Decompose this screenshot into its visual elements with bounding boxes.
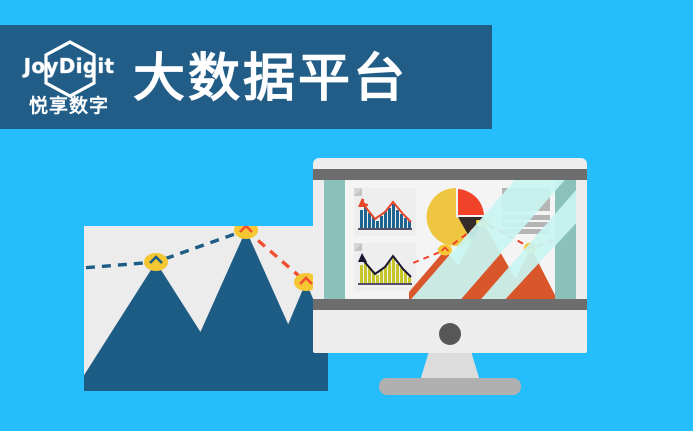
mini-chart-blue-svg (354, 188, 416, 236)
brand-logo[interactable]: JoyDigit 悦享数字 (14, 39, 124, 117)
camera-dot-icon (439, 323, 461, 345)
mini-chart-blue[interactable] (354, 188, 416, 236)
left-panel-chart-svg (84, 226, 328, 391)
brand-wordmark: JoyDigit (14, 56, 124, 76)
brand-wordmark-chinese: 悦享数字 (14, 97, 124, 116)
screen-left-band (324, 180, 345, 299)
monitor-neck (420, 353, 480, 381)
monitor-top-bar (313, 169, 587, 180)
poster-canvas: JoyDigit 悦享数字 大数据平台 (0, 0, 693, 431)
monitor-screen (324, 180, 576, 299)
left-panel-mountain-chart (84, 226, 328, 391)
mountain-shapes (84, 230, 328, 391)
screen-mountain-chart[interactable] (409, 220, 555, 299)
gray-header-block (502, 188, 550, 211)
screen-right-band (555, 180, 576, 299)
mini-chart-yellow-svg (354, 243, 416, 291)
dashboard-content (345, 180, 555, 299)
monitor-bottom-bar (313, 299, 587, 310)
monitor-base (379, 378, 521, 395)
mini-chart-yellow[interactable] (354, 243, 416, 291)
monitor-illustration (313, 158, 587, 353)
screen-mountain-chart-svg (409, 220, 555, 299)
page-title: 大数据平台 (133, 53, 408, 105)
header-banner: JoyDigit 悦享数字 大数据平台 (0, 25, 492, 129)
